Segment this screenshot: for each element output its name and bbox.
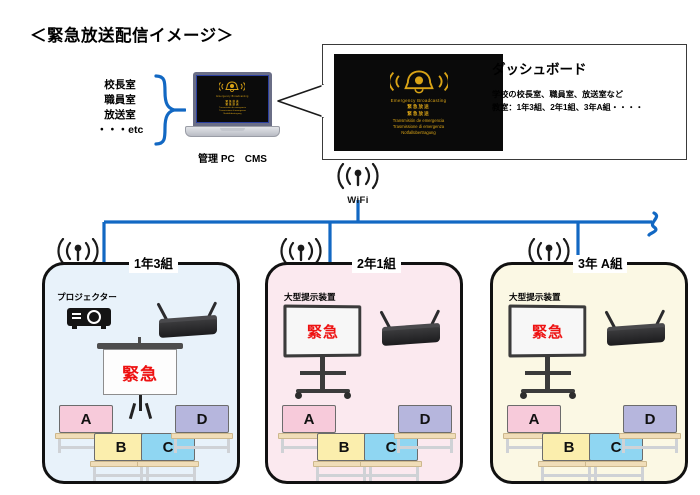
wireless-access-point-icon xyxy=(378,313,444,347)
student-desk-2-D[interactable]: D xyxy=(619,405,681,453)
classroom-title-1: 2年1組 xyxy=(352,255,401,273)
student-laptop-label: A xyxy=(59,405,113,433)
large-display-label-1: 大型提示装置 xyxy=(284,291,336,303)
student-desk-0-D[interactable]: D xyxy=(171,405,233,453)
source-room-item: ・・・etc xyxy=(88,123,152,138)
dashboard-screen: Emergency Broadcasting 緊急放送 緊急放送 Transmi… xyxy=(334,54,503,151)
source-room-item: 職員室 xyxy=(88,93,152,108)
callout-arrow-icon xyxy=(276,84,326,118)
source-room-list: 校長室 職員室 放送室 ・・・etc xyxy=(88,78,152,138)
curly-brace-icon xyxy=(152,74,186,146)
classroom-title-0: 1年3組 xyxy=(129,255,178,273)
large-display-device: 緊急 xyxy=(284,305,362,401)
line-break-squiggle-icon xyxy=(644,211,666,237)
classroom-card-2[interactable]: 3年 A組 大型提示装置 緊急 A B C xyxy=(490,262,688,484)
large-display-label-2: 大型提示装置 xyxy=(509,291,561,303)
classroom-card-1[interactable]: 2年1組 大型提示装置 緊急 A B C xyxy=(265,262,463,484)
diagram-canvas: ＜緊急放送配信イメージ＞ 校長室 職員室 放送室 ・・・etc xyxy=(0,0,700,495)
large-display-device: 緊急 xyxy=(509,305,587,401)
bell-alert-icon xyxy=(390,69,448,94)
student-laptop-label: D xyxy=(175,405,229,433)
laptop-screen-text: Emergency Broadcasting 緊急放送 緊急放送 Transmi… xyxy=(216,96,248,116)
projector-icon xyxy=(63,305,115,329)
student-desk-1-D[interactable]: D xyxy=(394,405,456,453)
dashboard-desc-line-2: 教室：1年3組、2年1組、3年A組・・・・ xyxy=(492,101,644,114)
bell-alert-icon xyxy=(219,81,245,92)
student-laptop-label: D xyxy=(623,405,677,433)
projector-label-0: プロジェクター xyxy=(57,291,117,303)
dashboard-desc-line-1: 学校の校長室、職員室、放送室など xyxy=(492,88,644,101)
backbone-wifi-node: WiFi xyxy=(330,163,386,206)
laptop-lid: Emergency Broadcasting 緊急放送 緊急放送 Transmi… xyxy=(193,72,272,126)
classroom-title-2: 3年 A組 xyxy=(573,255,627,273)
student-laptop-label: D xyxy=(398,405,452,433)
classroom-card-0[interactable]: 1年3組 プロジェクター 緊急 A xyxy=(42,262,240,484)
wifi-icon xyxy=(332,163,384,191)
laptop-base xyxy=(185,126,280,137)
laptop-screen: Emergency Broadcasting 緊急放送 緊急放送 Transmi… xyxy=(196,75,269,123)
wireless-access-point-icon xyxy=(603,313,669,347)
dashboard-heading: ダッシュボード xyxy=(492,58,587,78)
student-laptop-label: A xyxy=(507,405,561,433)
management-pc-caption: 管理 PC CMS xyxy=(185,150,280,165)
alert-message-2: 緊急 xyxy=(508,305,586,358)
dashboard-description: 学校の校長室、職員室、放送室など 教室：1年3組、2年1組、3年A組・・・・ xyxy=(492,88,644,114)
source-room-item: 放送室 xyxy=(88,108,152,123)
dashboard-screen-text: Emergency Broadcasting 緊急放送 緊急放送 Transmi… xyxy=(391,98,447,136)
alert-message-0: 緊急 xyxy=(103,349,177,395)
backbone-wifi-label: WiFi xyxy=(330,195,386,206)
alert-message-1: 緊急 xyxy=(283,305,361,358)
source-room-item: 校長室 xyxy=(88,78,152,93)
page-title: ＜緊急放送配信イメージ＞ xyxy=(30,22,234,46)
wireless-access-point-icon xyxy=(155,305,221,339)
management-pc: Emergency Broadcasting 緊急放送 緊急放送 Transmi… xyxy=(185,72,280,144)
student-laptop-label: A xyxy=(282,405,336,433)
